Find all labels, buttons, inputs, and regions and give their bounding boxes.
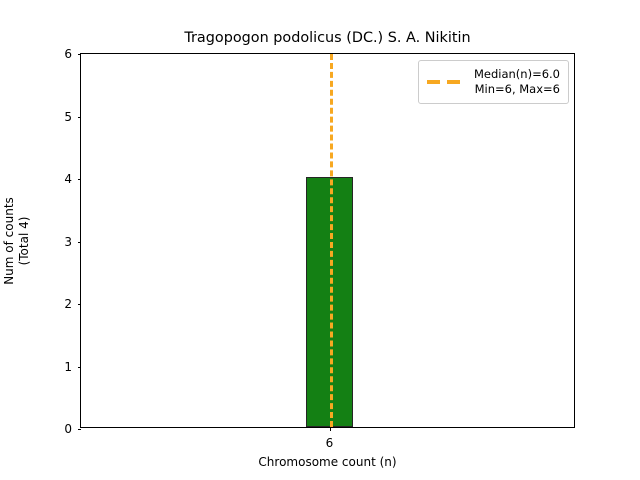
ytick-mark-0 <box>78 429 82 430</box>
ytick-label-3: 3 <box>42 236 72 248</box>
legend-dashed-line-icon <box>427 76 465 88</box>
legend-minmax-label: Min=6, Max=6 <box>474 82 560 97</box>
legend: Median(n)=6.0 Min=6, Max=6 <box>418 60 569 104</box>
chart-figure: Tragopogon podolicus (DC.) S. A. Nikitin… <box>0 0 640 480</box>
xtick-mark-6 <box>330 427 331 431</box>
x-axis-label: Chromosome count (n) <box>80 455 575 469</box>
ytick-label-2: 2 <box>42 298 72 310</box>
xtick-label-6: 6 <box>300 437 360 449</box>
median-line <box>330 54 333 427</box>
ytick-label-4: 4 <box>42 173 72 185</box>
ytick-label-5: 5 <box>42 111 72 123</box>
legend-entry-text: Median(n)=6.0 Min=6, Max=6 <box>474 67 560 97</box>
plot-axes: 0 1 2 3 4 5 6 Num of counts (Total 4) 6 <box>80 53 575 428</box>
ytick-label-6: 6 <box>42 48 72 60</box>
legend-median-label: Median(n)=6.0 <box>474 67 560 82</box>
y-axis-label: Num of counts (Total 4) <box>2 197 32 285</box>
y-axis-label-line2: (Total 4) <box>17 197 32 285</box>
chart-title: Tragopogon podolicus (DC.) S. A. Nikitin <box>80 29 575 47</box>
ytick-label-0: 0 <box>42 423 72 435</box>
plot-area <box>81 54 574 427</box>
ytick-label-1: 1 <box>42 361 72 373</box>
y-axis-label-line1: Num of counts <box>2 197 17 285</box>
